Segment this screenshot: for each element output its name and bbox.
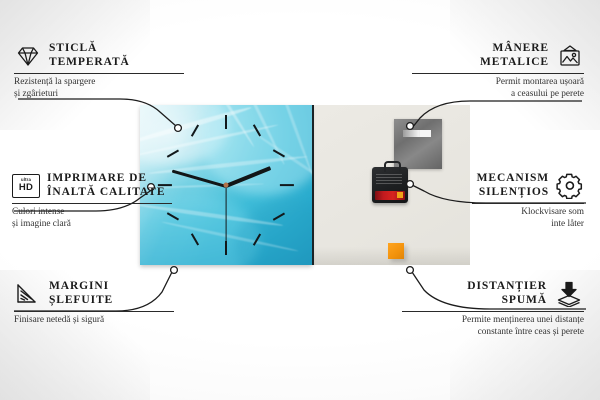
ultra-hd-icon: ultra HD xyxy=(12,174,40,198)
clock-hub xyxy=(224,183,229,188)
callout-title: MÂNERE METALICE xyxy=(480,42,549,69)
callout-sticla-temperata[interactable]: STICLĂ TEMPERATĂ Rezistență la spargere … xyxy=(14,42,184,100)
callout-distantier-spuma[interactable]: DISTANȚIER SPUMĂ Permite menținerea unei… xyxy=(402,280,584,338)
callout-rule xyxy=(412,73,584,74)
callout-rule xyxy=(14,73,184,74)
gear-icon xyxy=(556,173,584,199)
callout-rule xyxy=(402,311,584,312)
hour-tick xyxy=(280,184,294,186)
infographic-stage: STICLĂ TEMPERATĂ Rezistență la spargere … xyxy=(0,0,600,400)
mechanism-label xyxy=(376,174,402,184)
callout-description: Finisare netedă și sigură xyxy=(14,315,174,327)
callout-description: Permit montarea ușoară a ceasului pe per… xyxy=(412,77,584,100)
hanger-slot xyxy=(403,130,431,137)
spacer-arrow-icon xyxy=(554,281,584,307)
callout-rule xyxy=(472,203,584,204)
diamond-icon xyxy=(14,44,42,68)
callout-description: Culori intense și imagine clară xyxy=(12,207,172,230)
callout-title: MECANISM SILENȚIOS xyxy=(477,172,549,199)
product-photo xyxy=(140,105,470,265)
callout-title: MARGINI ȘLEFUITE xyxy=(49,280,113,307)
callout-title: DISTANȚIER SPUMĂ xyxy=(467,280,547,307)
ultra-hd-icon-main: HD xyxy=(19,183,33,193)
foam-spacer xyxy=(388,243,404,259)
picture-frame-icon xyxy=(556,44,584,68)
callout-description: Rezistență la spargere și zgârieturi xyxy=(14,77,184,100)
battery xyxy=(375,191,405,200)
callout-imprimare-hd[interactable]: ultra HD IMPRIMARE DE ÎNALTĂ CALITATE Cu… xyxy=(12,172,172,230)
callout-rule xyxy=(14,311,174,312)
metal-hanger xyxy=(394,119,442,169)
hour-tick xyxy=(225,115,227,129)
callout-margini-slefuite[interactable]: MARGINI ȘLEFUITE Finisare netedă și sigu… xyxy=(14,280,174,327)
callout-rule xyxy=(12,203,172,204)
callout-manere-metalice[interactable]: MÂNERE METALICE Permit montarea ușoară a… xyxy=(412,42,584,100)
mechanism-hook xyxy=(384,161,401,172)
callout-mecanism-silentios[interactable]: MECANISM SILENȚIOS Klockvisare som inte … xyxy=(472,172,584,230)
callout-title: IMPRIMARE DE ÎNALTĂ CALITATE xyxy=(47,172,165,199)
callout-description: Permite menținerea unei distanțe constan… xyxy=(402,315,584,338)
clock-mechanism xyxy=(372,167,408,203)
second-hand xyxy=(225,186,226,248)
callout-title: STICLĂ TEMPERATĂ xyxy=(49,42,130,69)
beveled-edge-icon xyxy=(14,282,42,306)
callout-description: Klockvisare som inte låter xyxy=(472,207,584,230)
